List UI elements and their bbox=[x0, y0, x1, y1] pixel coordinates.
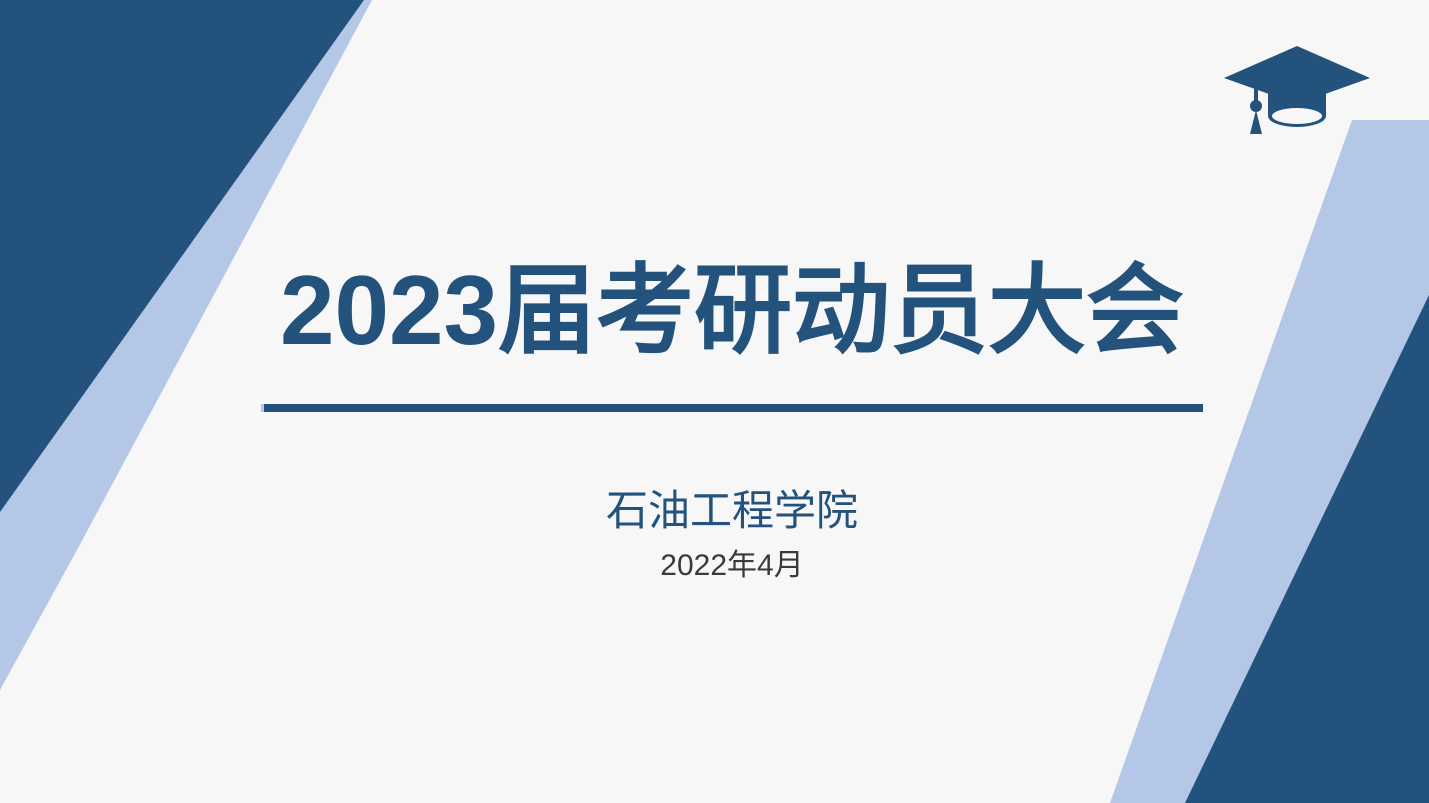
title-block: 2023届考研动员大会 bbox=[261, 258, 1203, 364]
slide-date: 2022年4月 bbox=[261, 548, 1203, 584]
organization-name: 石油工程学院 bbox=[261, 486, 1203, 536]
title-slide: 2023届考研动员大会 石油工程学院 2022年4月 bbox=[0, 0, 1429, 803]
bottom-right-light-band bbox=[1110, 120, 1429, 803]
graduation-cap-icon bbox=[1222, 42, 1372, 138]
bottom-right-dark-wedge bbox=[1185, 295, 1429, 803]
subtitle-block: 石油工程学院 2022年4月 bbox=[261, 486, 1203, 584]
page-title: 2023届考研动员大会 bbox=[261, 258, 1203, 364]
title-divider bbox=[261, 404, 1203, 412]
decorative-diagonal-shapes bbox=[0, 0, 1429, 803]
